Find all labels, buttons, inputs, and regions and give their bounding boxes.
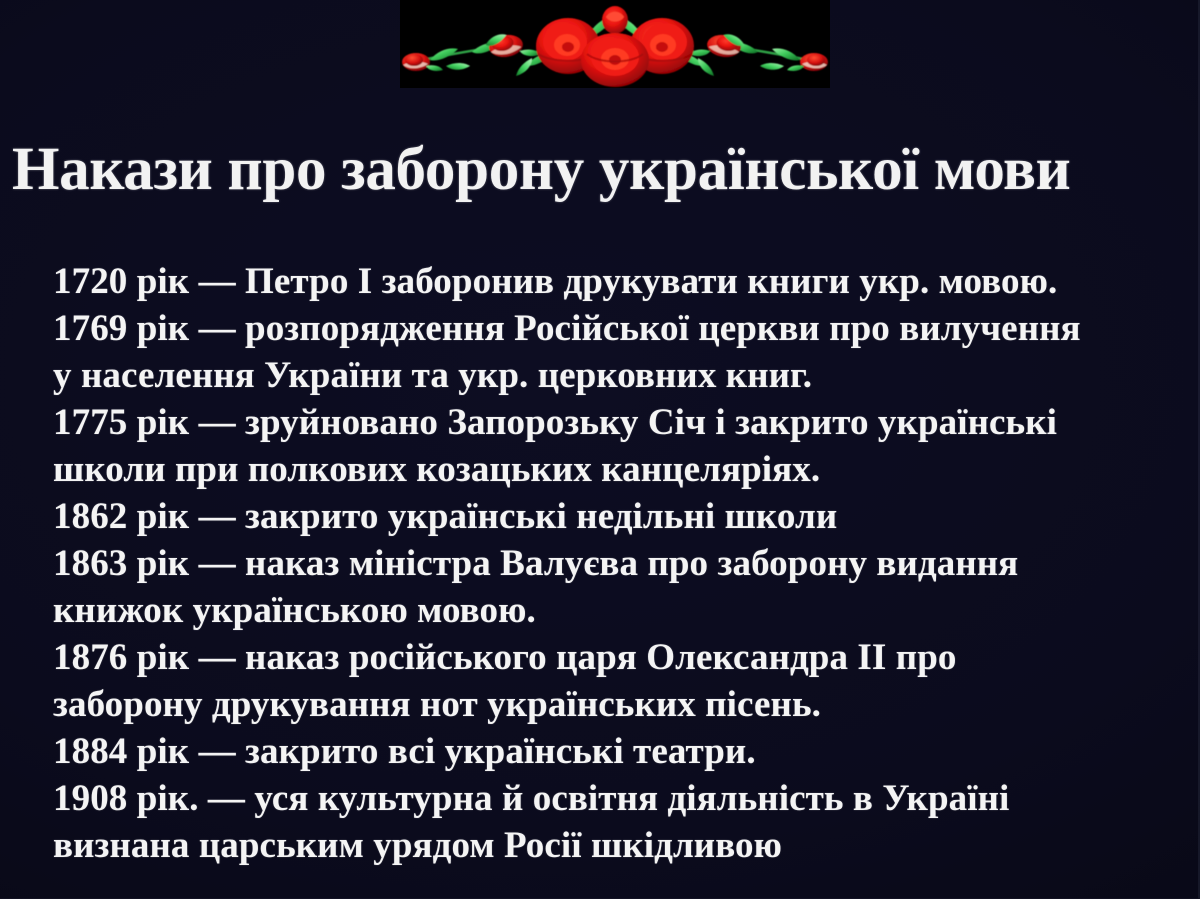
decree-line: 1876 рік — наказ російського царя Олекса… (53, 634, 1178, 681)
decree-line: 1884 рік — закрито всі українські театри… (53, 728, 1178, 775)
decree-line: 1720 рік — Петро I заборонив друкувати к… (53, 258, 1178, 305)
decree-line: книжок українською мовою. (53, 587, 1178, 634)
decree-line: 1908 рік. — уся культурна й освітня діял… (53, 775, 1178, 822)
decree-line: 1862 рік — закрито українські недільні ш… (53, 493, 1178, 540)
slide-canvas: Накази про заборону української мови 172… (0, 0, 1200, 899)
rose-garland-ornament (400, 0, 830, 88)
decree-line: визнана царським урядом Росії шкідливою (53, 822, 1178, 869)
decree-line: 1769 рік — розпорядження Російської церк… (53, 305, 1178, 352)
decree-list: 1720 рік — Петро I заборонив друкувати к… (53, 258, 1178, 869)
decree-line: 1775 рік — зруйновано Запорозьку Січ і з… (53, 399, 1178, 446)
page-title: Накази про заборону української мови (12, 133, 1192, 207)
decree-line: 1863 рік — наказ міністра Валуєва про за… (53, 540, 1178, 587)
decree-line: заборону друкування нот українських пісе… (53, 681, 1178, 728)
decree-line: у населення України та укр. церковних кн… (53, 352, 1178, 399)
decree-line: школи при полкових козацьких канцеляріях… (53, 446, 1178, 493)
